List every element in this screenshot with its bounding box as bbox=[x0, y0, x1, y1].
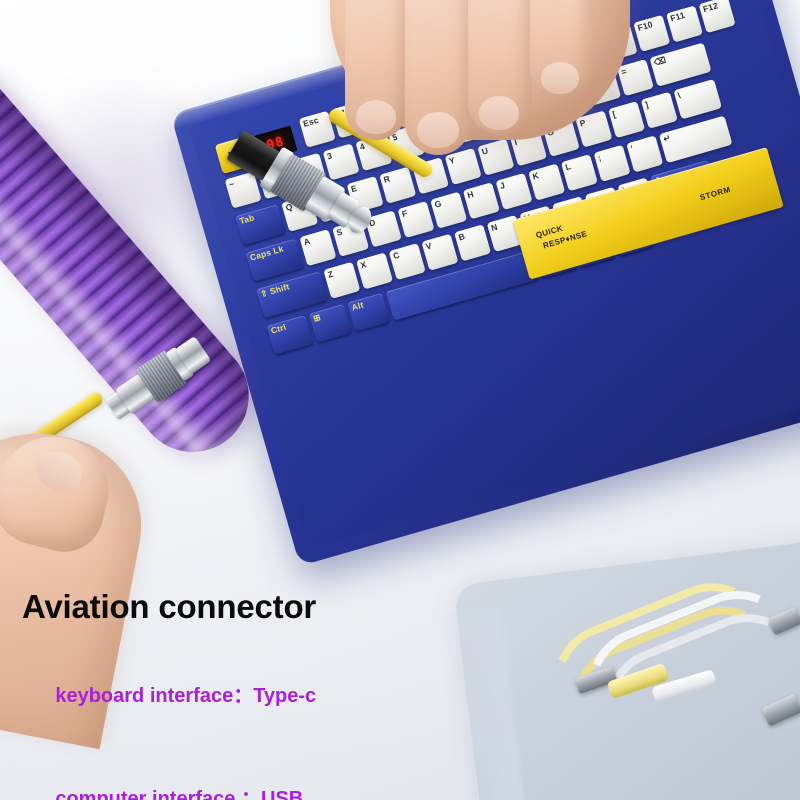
fingernail bbox=[541, 62, 579, 94]
caption-block: Aviation connector keyboard interface：Ty… bbox=[22, 588, 542, 800]
caption-title: Aviation connector bbox=[22, 588, 542, 626]
spec-label-computer-interface: computer interface ： bbox=[55, 788, 261, 800]
fingernail bbox=[417, 112, 459, 148]
fingernail bbox=[479, 96, 519, 130]
spec-row-computer-interface: computer interface ：USB bbox=[22, 759, 542, 800]
spec-value-computer-interface: USB bbox=[261, 788, 303, 800]
fingernail bbox=[356, 100, 396, 134]
spec-label-keyboard-interface: keyboard interface： bbox=[55, 685, 253, 707]
spec-value-keyboard-interface: Type-c bbox=[253, 685, 316, 707]
spec-row-keyboard-interface: keyboard interface：Type-c bbox=[22, 656, 542, 731]
product-photo-scene: 98 Esc F1 F2 F3 F4 F5 F6 F7 F8 F9 F10 F1… bbox=[0, 0, 800, 800]
